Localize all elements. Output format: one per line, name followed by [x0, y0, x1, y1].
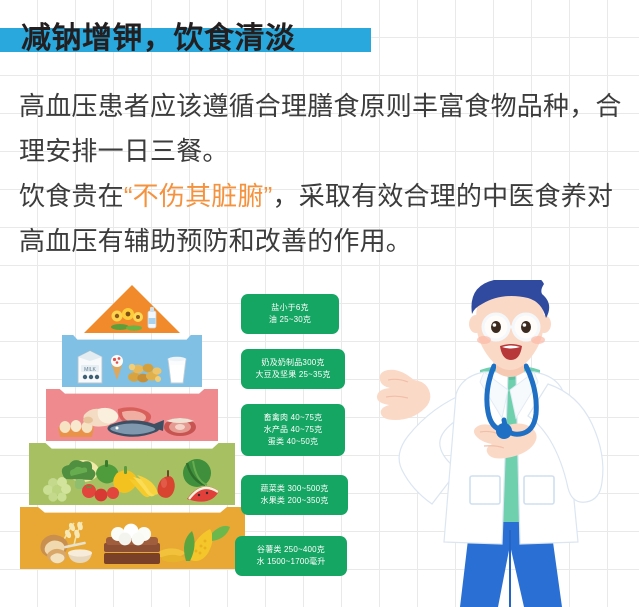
pyramid-tier-protein-shape — [46, 389, 218, 441]
nutrition-label-oils-line-1: 盐小于6克 — [271, 302, 308, 314]
body-paragraph-2: 饮食贵在“不伤其脏腑”，采取有效合理的中医食养对高血压有辅助预防和改善的作用。 — [19, 174, 631, 264]
pyramid-tier-dairy: MILK — [62, 335, 202, 387]
nutrition-label-produce: 蔬菜类 300~500克 水果类 200~350克 — [241, 475, 348, 515]
body-paragraph-2-quote: “不伤其脏腑” — [124, 181, 273, 211]
pyramid-tier-protein — [46, 389, 218, 441]
doctor-eye-left — [491, 321, 501, 333]
pyramid-tier-grains-shape — [20, 507, 245, 569]
nutrition-label-dairy-line-1: 奶及奶制品300克 — [261, 357, 324, 369]
pyramid-tier-grains — [20, 507, 245, 569]
pyramid-tier-oils-shape — [84, 285, 180, 333]
pyramid-tier-dairy-shape — [62, 335, 202, 387]
nutrition-label-produce-line-1: 蔬菜类 300~500克 — [261, 483, 329, 495]
nutrition-label-grains-line-1: 谷薯类 250~400克 — [257, 544, 325, 556]
page-canvas: 减钠增钾，饮食清淡 高血压患者应该遵循合理膳食原则丰富食物品种，合理安排一日三餐… — [0, 0, 639, 607]
doctor-eye-right — [521, 321, 531, 333]
food-pyramid: MILK — [20, 285, 245, 597]
nutrition-label-dairy-line-2: 大豆及坚果 25~35克 — [255, 369, 330, 381]
nutrition-label-produce-line-2: 水果类 200~350克 — [261, 495, 329, 507]
nutrition-label-protein-line-1: 畜禽肉 40~75克 — [264, 412, 323, 424]
headline: 减钠增钾，饮食清淡 — [0, 16, 639, 62]
doctor-illustration — [372, 280, 639, 607]
nutrition-label-oils: 盐小于6克 油 25~30克 — [241, 294, 339, 334]
nutrition-label-dairy: 奶及奶制品300克 大豆及坚果 25~35克 — [241, 349, 345, 389]
stethoscope-chestpiece — [496, 423, 512, 439]
nutrition-label-grains: 谷薯类 250~400克 水 1500~1700毫升 — [235, 536, 347, 576]
body-paragraph-2-prefix: 饮食贵在 — [19, 181, 124, 211]
nutrition-label-oils-line-2: 油 25~30克 — [269, 314, 311, 326]
nutrition-label-protein-line-3: 蛋类 40~50克 — [268, 436, 319, 448]
pyramid-tier-oils — [84, 285, 180, 333]
nutrition-label-grains-line-2: 水 1500~1700毫升 — [256, 556, 325, 568]
illustration-area: MILK — [0, 280, 639, 607]
nutrition-label-protein-line-2: 水产品 40~75克 — [264, 424, 323, 436]
headline-text: 减钠增钾，饮食清淡 — [21, 16, 296, 62]
pyramid-tier-produce-shape — [29, 443, 235, 505]
doctor-head — [469, 280, 551, 370]
nutrition-label-protein: 畜禽肉 40~75克 水产品 40~75克 蛋类 40~50克 — [241, 404, 345, 456]
body-copy: 高血压患者应该遵循合理膳食原则丰富食物品种，合理安排一日三餐。 饮食贵在“不伤其… — [19, 84, 631, 264]
body-paragraph-1: 高血压患者应该遵循合理膳食原则丰富食物品种，合理安排一日三餐。 — [19, 84, 631, 174]
pyramid-tier-produce — [29, 443, 235, 505]
